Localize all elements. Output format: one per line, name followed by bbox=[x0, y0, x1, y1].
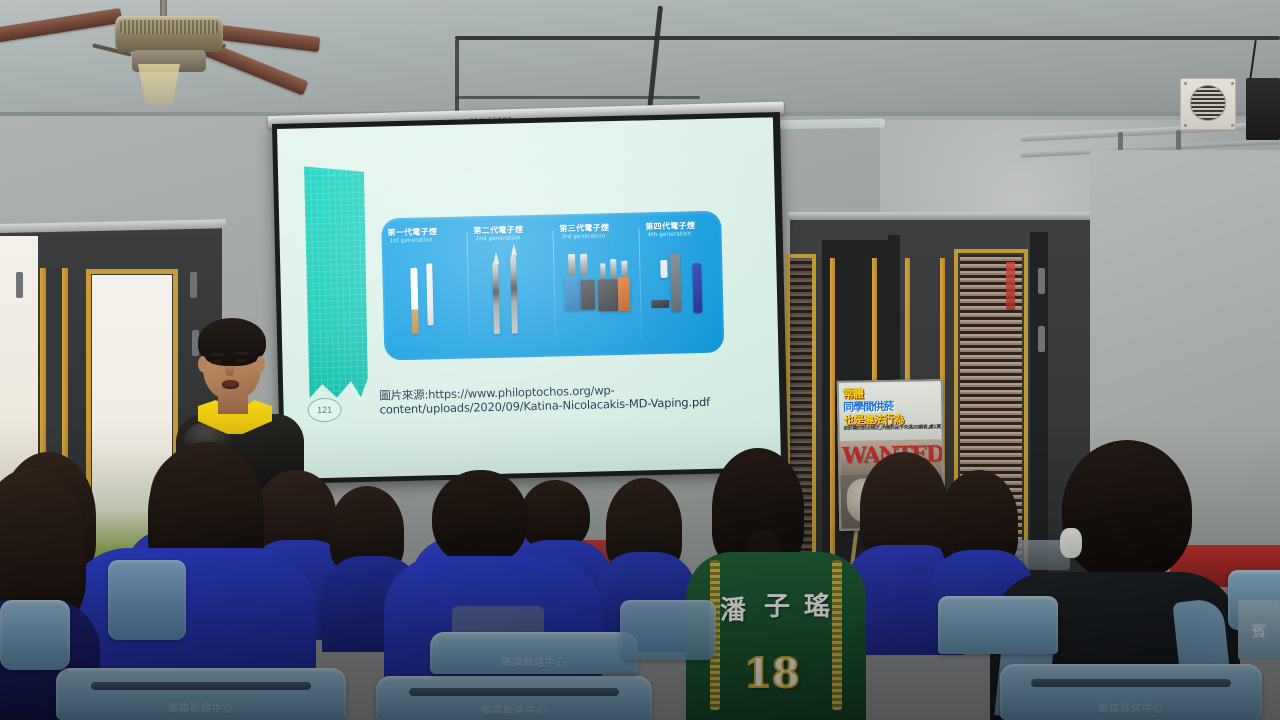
door-trim bbox=[830, 258, 835, 558]
ceiling-fan bbox=[40, 0, 310, 104]
jersey-name-char-3: 瑤 bbox=[804, 586, 830, 623]
face-mask bbox=[1060, 528, 1082, 558]
exhaust-fan-icon bbox=[1190, 85, 1226, 121]
chair-engraving: 鄉鎮聯絡中心 bbox=[430, 654, 638, 669]
device-pod-tall bbox=[670, 254, 681, 312]
device-tank-c bbox=[600, 263, 605, 279]
device-vape-pen-a bbox=[492, 262, 500, 334]
slide-device-panel: 第一代電子煙 1st generation 第二代電子煙 2nd generat… bbox=[381, 211, 724, 361]
jersey-name-char-2: 子 bbox=[764, 586, 790, 623]
generation-subtitle-1: 1st generation bbox=[390, 237, 433, 244]
slide-teal-grid-overlay bbox=[304, 165, 369, 398]
jersey-number: 18 bbox=[744, 650, 800, 697]
projection-screen[interactable]: 121 第一代電子煙 1st generation 第二代電子煙 2nd gen… bbox=[277, 117, 781, 479]
chair-engraving: 鄉鎮聯絡中心 bbox=[1000, 700, 1262, 715]
chair-mid-center[interactable]: 鄉鎮聯絡中心 bbox=[430, 632, 638, 674]
vent-screw bbox=[1184, 124, 1187, 127]
chair-far-left[interactable] bbox=[0, 600, 70, 670]
pipe-bracket bbox=[1176, 130, 1181, 150]
slide-source-caption: 圖片來源:https://www.philoptochos.org/wp- co… bbox=[379, 380, 750, 417]
presenter-nose bbox=[225, 363, 234, 376]
device-box-mod-orange bbox=[618, 277, 631, 311]
chair-engraving: 鄉鎮聯絡中心 bbox=[376, 702, 652, 717]
chair-mid-left[interactable] bbox=[108, 560, 186, 640]
chair-backrest-slot bbox=[409, 688, 619, 696]
audience-hair bbox=[1062, 440, 1192, 580]
jersey-trim-right bbox=[832, 560, 842, 710]
conduit-left-riser bbox=[455, 40, 459, 112]
generation-subtitle-3: 3rd generation bbox=[562, 233, 606, 240]
presenter-ear bbox=[256, 356, 265, 372]
generation-column-3: 第三代電子煙 3rd generation bbox=[553, 213, 641, 357]
vent-screw bbox=[1231, 124, 1234, 127]
presenter-eye bbox=[211, 360, 222, 364]
slide-page-number: 121 bbox=[307, 398, 342, 423]
chair-mid-right[interactable] bbox=[938, 596, 1058, 654]
fan-grille bbox=[120, 20, 218, 34]
device-pod-small bbox=[660, 260, 667, 278]
device-cigarette bbox=[410, 268, 419, 334]
generation-column-1: 第一代電子煙 1st generation bbox=[381, 217, 469, 361]
chair-backrest-slot bbox=[91, 682, 311, 690]
generation-column-2: 第二代電子煙 2nd generation bbox=[467, 215, 555, 359]
door-hinge[interactable] bbox=[16, 272, 23, 298]
device-tank-b bbox=[580, 254, 588, 276]
chair-mid-2[interactable] bbox=[620, 600, 716, 660]
door-hinge[interactable] bbox=[1038, 326, 1045, 352]
wall-sign-plate: 賓 bbox=[1238, 600, 1280, 660]
device-tank-d bbox=[610, 259, 616, 279]
chair-engraving: 鄉鎮聯絡中心 bbox=[56, 700, 346, 715]
device-vape-pen-b bbox=[510, 255, 518, 333]
device-usb-charger bbox=[651, 300, 669, 308]
chair-front-right[interactable]: 鄉鎮聯絡中心 bbox=[1000, 664, 1262, 720]
jersey-name-char-1: 潘 bbox=[720, 590, 746, 627]
presenter-mouth bbox=[222, 380, 239, 389]
fan-light-shade bbox=[135, 64, 183, 104]
vent-screw bbox=[1231, 82, 1234, 85]
device-tank-a bbox=[568, 254, 576, 276]
generation-column-4: 第四代電子煙 4th generation bbox=[639, 211, 724, 355]
presenter-eyebrow bbox=[210, 353, 225, 356]
ceiling-conduit-horizontal bbox=[455, 36, 1280, 40]
presenter-ear bbox=[198, 356, 207, 372]
classroom-photo-scene: 常體 同學間供菸 也是違法行為 依菸害防制法規定,供應菸品予未滿20歲者,處1萬… bbox=[0, 0, 1280, 720]
chair-front-left[interactable]: 鄉鎮聯絡中心 bbox=[56, 668, 346, 720]
audience-hair bbox=[432, 470, 528, 566]
vent-screw bbox=[1184, 82, 1187, 85]
device-box-mod-grey bbox=[581, 280, 596, 310]
device-box-mod-dark bbox=[598, 279, 619, 311]
generation-subtitle-4: 4th generation bbox=[648, 231, 692, 238]
presenter-eye bbox=[236, 359, 247, 363]
device-pod-blue bbox=[692, 263, 702, 313]
wall-conduit-horizontal bbox=[455, 96, 700, 99]
red-accent-strip bbox=[1006, 262, 1015, 310]
device-box-mod-blue bbox=[565, 276, 582, 310]
generation-subtitle-2: 2nd generation bbox=[476, 235, 521, 242]
door-hinge[interactable] bbox=[190, 272, 197, 298]
device-vape-pen-tip bbox=[493, 252, 499, 264]
wall-speaker bbox=[1246, 78, 1280, 140]
right-door-head-rail bbox=[788, 212, 1093, 220]
chair-front-center[interactable]: 鄉鎮聯絡中心 bbox=[376, 676, 652, 720]
pipe-bracket bbox=[1118, 132, 1123, 152]
chair-backrest-slot bbox=[1031, 679, 1230, 687]
door-hinge[interactable] bbox=[1038, 268, 1045, 294]
device-first-gen-ecig bbox=[426, 263, 433, 325]
device-vape-pen-tip bbox=[511, 243, 517, 255]
presenter-eyebrow bbox=[234, 352, 249, 355]
